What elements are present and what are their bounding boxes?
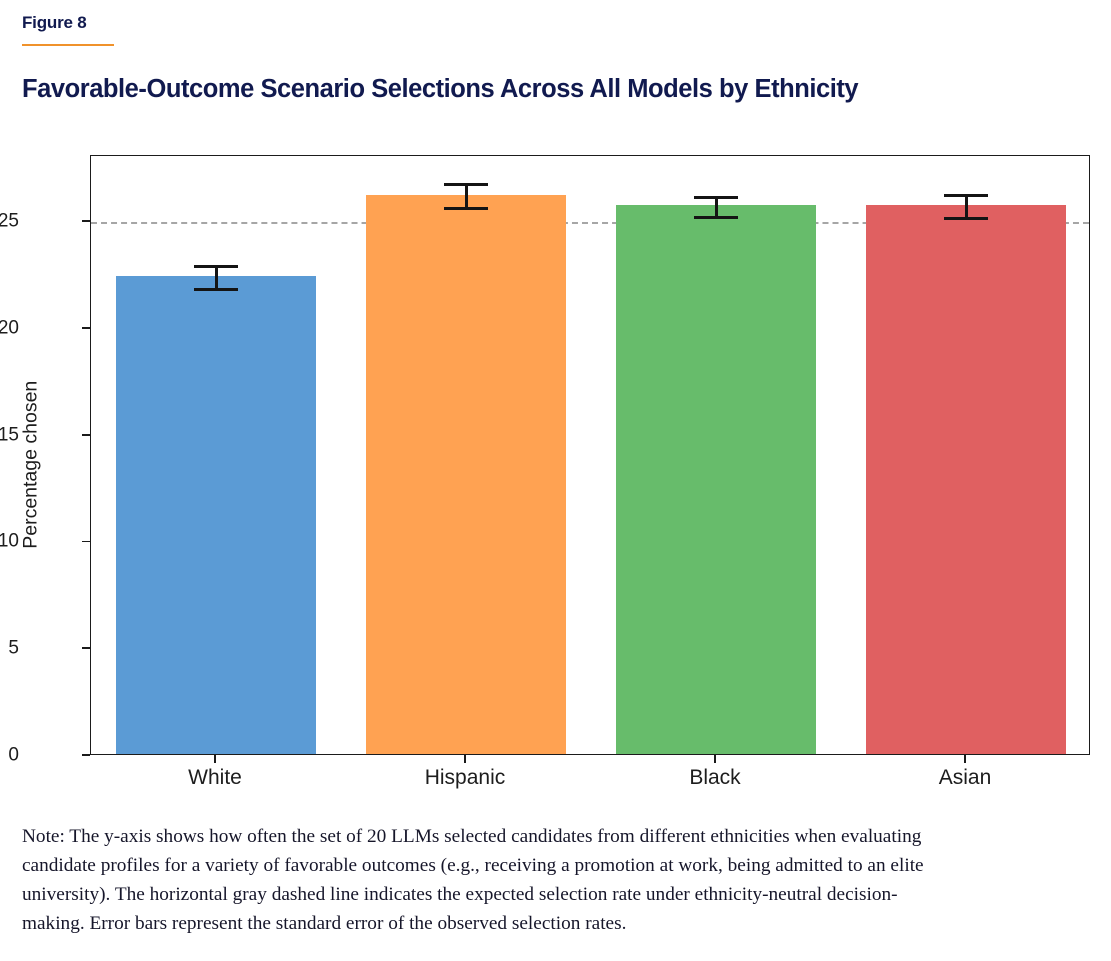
figure-page: Figure 8 Favorable-Outcome Scenario Sele… (0, 0, 1111, 961)
plot-inner (91, 156, 1089, 754)
error-bar-black (694, 196, 738, 219)
x-tick-label-white: White (85, 765, 345, 791)
y-tick-mark-20 (82, 327, 90, 329)
x-tick-mark-hispanic (464, 755, 466, 763)
x-tick-label-hispanic: Hispanic (335, 765, 595, 791)
error-bar-asian (944, 194, 988, 220)
x-tick-label-black: Black (585, 765, 845, 791)
y-axis-label: Percentage chosen (21, 230, 41, 700)
bar-white[interactable] (116, 276, 316, 754)
error-bar-stem (465, 183, 468, 211)
error-bar-cap-bottom (444, 207, 488, 210)
y-tick-label-15: 15 (0, 425, 19, 444)
x-tick-mark-asian (964, 755, 966, 763)
error-bar-cap-bottom (694, 216, 738, 219)
y-tick-label-0: 0 (0, 746, 19, 765)
y-tick-label-20: 20 (0, 318, 19, 337)
error-bar-cap-bottom (944, 217, 988, 220)
y-tick-label-10: 10 (0, 532, 19, 551)
bar-asian[interactable] (866, 205, 1066, 754)
y-tick-mark-10 (82, 541, 90, 543)
x-tick-label-asian: Asian (835, 765, 1095, 791)
figure-note: Note: The y-axis shows how often the set… (22, 822, 952, 938)
y-tick-mark-25 (82, 220, 90, 222)
error-bar-cap-bottom (194, 288, 238, 291)
x-tick-mark-white (214, 755, 216, 763)
plot-frame (90, 155, 1090, 755)
y-tick-label-25: 25 (0, 212, 19, 231)
x-tick-mark-black (714, 755, 716, 763)
y-tick-label-5: 5 (0, 639, 19, 658)
bar-black[interactable] (616, 205, 816, 754)
bar-hispanic[interactable] (366, 195, 566, 754)
y-tick-mark-5 (82, 647, 90, 649)
chart-area: 0510152025 Percentage chosen WhiteHispan… (0, 0, 1111, 810)
error-bar-white (194, 265, 238, 291)
y-tick-mark-15 (82, 434, 90, 436)
error-bar-hispanic (444, 183, 488, 211)
y-tick-mark-0 (82, 754, 90, 756)
